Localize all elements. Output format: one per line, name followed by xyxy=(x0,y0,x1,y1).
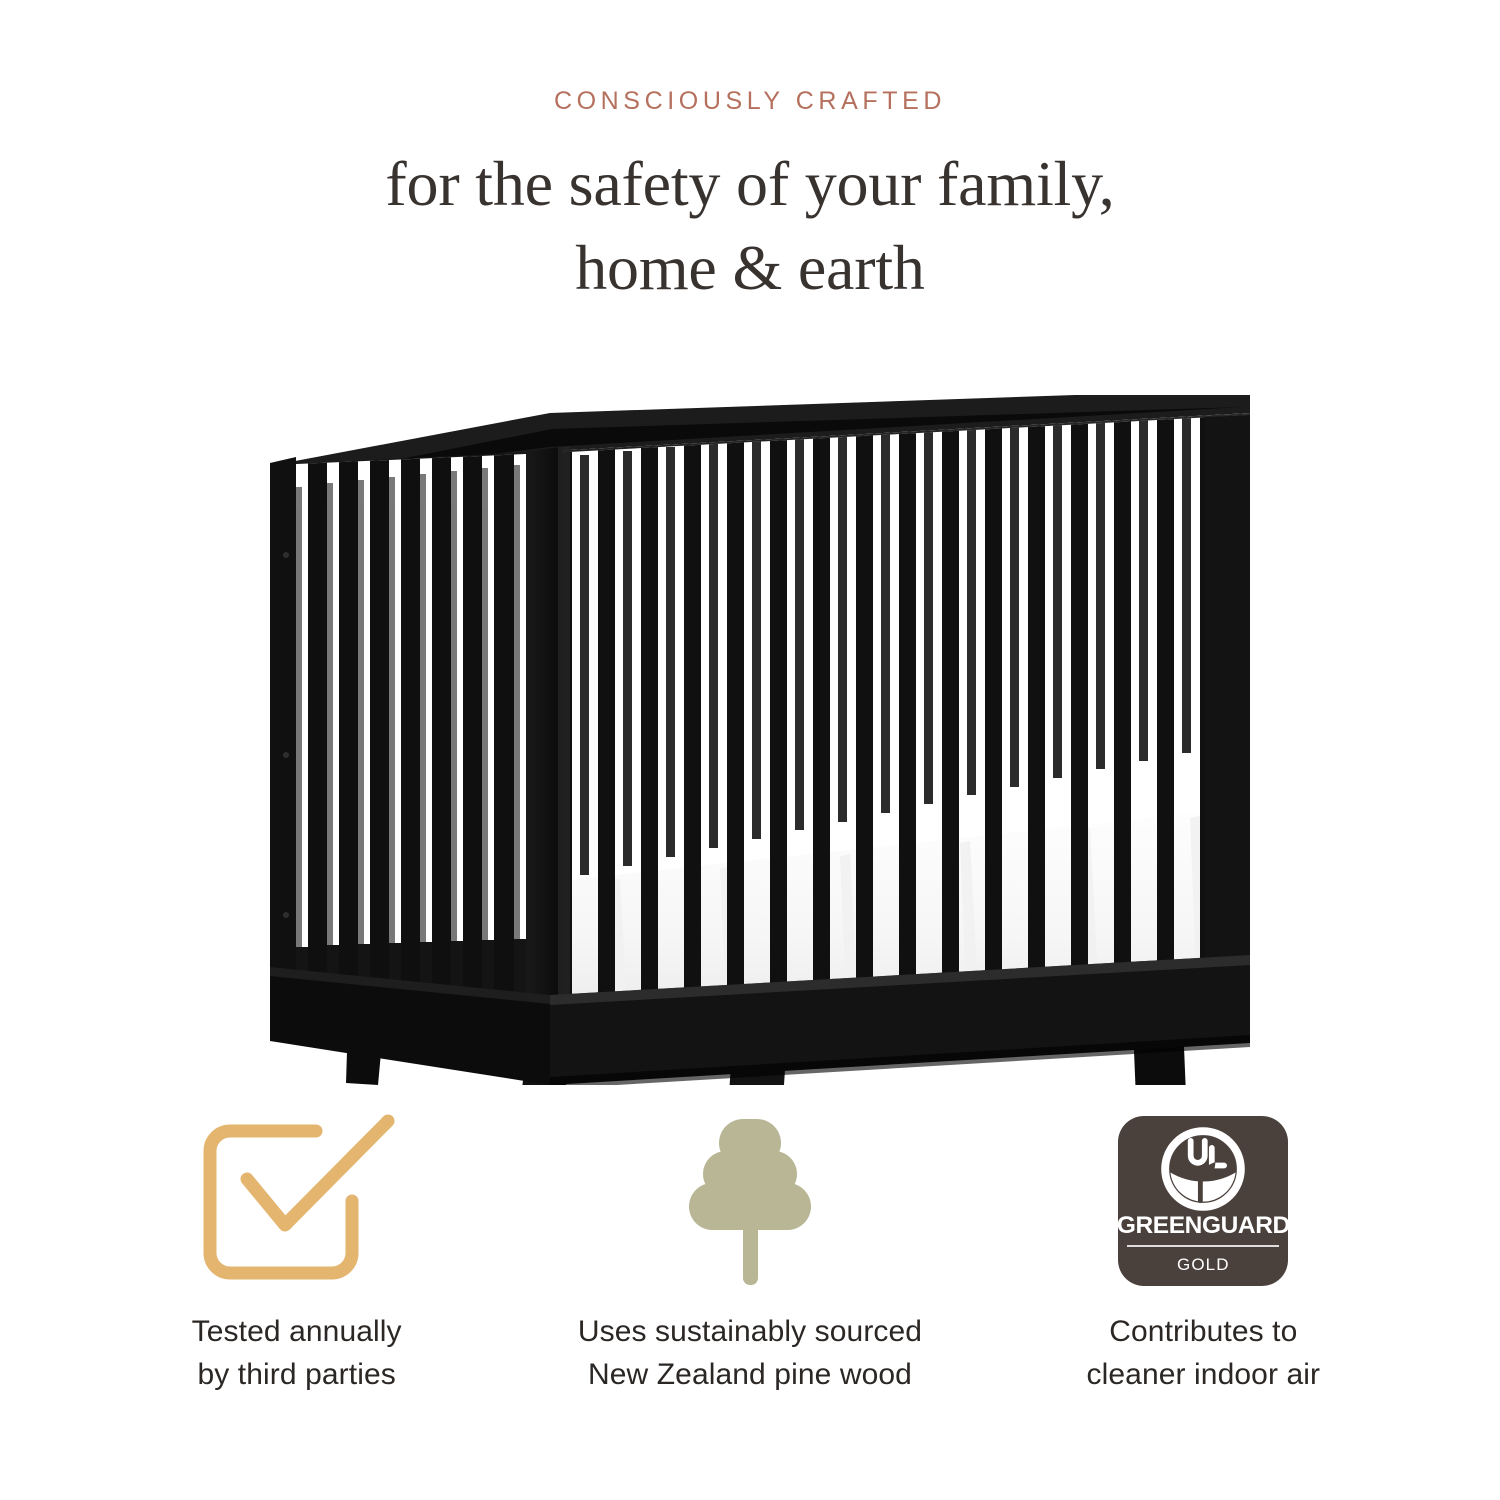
feature-caption-2: Uses sustainably sourced New Zealand pin… xyxy=(578,1311,922,1396)
feature-caption-1: Tested annually by third parties xyxy=(192,1311,402,1396)
feature-item-sustainable-wood: Uses sustainably sourced New Zealand pin… xyxy=(523,1108,976,1396)
headline-line-1: for the safety of your family, xyxy=(0,142,1500,226)
feature-item-greenguard-gold: GREENGUARD GOLD Contributes to cleaner i… xyxy=(977,1108,1430,1396)
feature-icon-wrap-3: GREENGUARD GOLD xyxy=(1118,1108,1288,1293)
header-block: CONSCIOUSLY CRAFTED for the safety of yo… xyxy=(0,86,1500,311)
checkbox-check-icon xyxy=(192,1113,402,1288)
greenguard-label: GREENGUARD xyxy=(1118,1214,1288,1239)
feature-caption-1-line-1: Tested annually xyxy=(192,1311,402,1354)
feature-caption-2-line-2: New Zealand pine wood xyxy=(578,1354,922,1397)
page-title: for the safety of your family, home & ea… xyxy=(0,116,1500,311)
tree-icon xyxy=(685,1113,815,1288)
greenguard-gold-badge-icon: GREENGUARD GOLD xyxy=(1118,1116,1288,1286)
crib-front-slats xyxy=(545,400,1250,1045)
badge-divider xyxy=(1127,1245,1279,1247)
feature-item-tested-annually: Tested annually by third parties xyxy=(70,1108,523,1396)
product-image-crib xyxy=(250,395,1250,1085)
feature-caption-1-line-2: by third parties xyxy=(192,1354,402,1397)
feature-caption-3: Contributes to cleaner indoor air xyxy=(1087,1311,1321,1396)
feature-caption-2-line-1: Uses sustainably sourced xyxy=(578,1311,922,1354)
headline-line-2: home & earth xyxy=(0,226,1500,310)
marketing-infographic-page: CONSCIOUSLY CRAFTED for the safety of yo… xyxy=(0,0,1500,1500)
feature-caption-3-line-2: cleaner indoor air xyxy=(1087,1354,1321,1397)
feature-icon-wrap-1 xyxy=(192,1108,402,1293)
eyebrow-text: CONSCIOUSLY CRAFTED xyxy=(0,86,1500,116)
feature-caption-3-line-1: Contributes to xyxy=(1087,1311,1321,1354)
greenguard-level-label: GOLD xyxy=(1177,1256,1230,1273)
crib-illustration xyxy=(250,395,1250,1085)
ul-mark-icon xyxy=(1159,1125,1247,1213)
feature-icon-wrap-2 xyxy=(685,1108,815,1293)
feature-list: Tested annually by third parties xyxy=(70,1108,1430,1396)
